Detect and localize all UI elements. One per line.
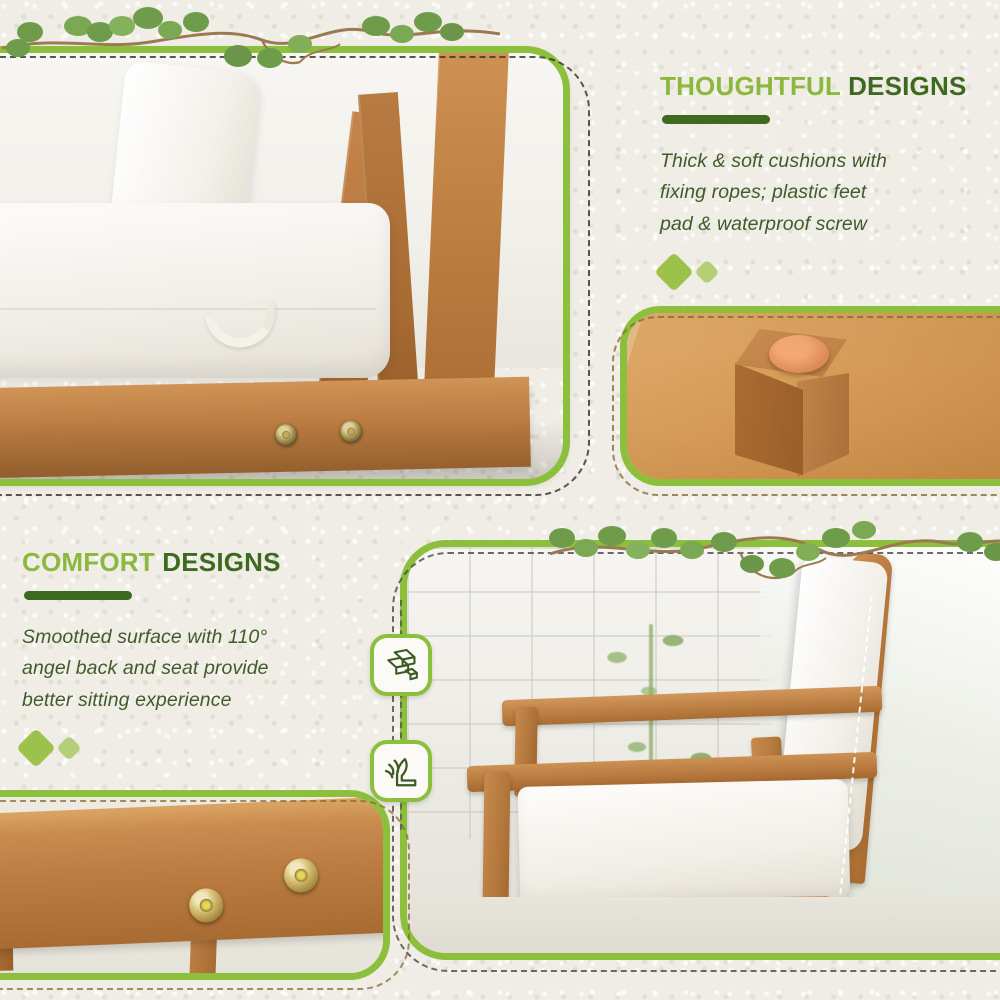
photo-panel-cushion — [0, 46, 570, 486]
photo-bottom-shadow — [0, 419, 563, 479]
waterproof-screw — [189, 888, 224, 923]
thoughtful-body-copy: Thick & soft cushions with fixing ropes;… — [660, 146, 990, 241]
headline-light-word: COMFORT — [22, 547, 155, 577]
floor-surface — [407, 897, 1000, 953]
comfort-headline: COMFORT DESIGNS — [22, 548, 362, 577]
body-line: Smoothed surface with 110° — [22, 622, 362, 654]
comfort-seat-icon — [382, 752, 420, 790]
body-line: better sitting experience — [22, 685, 362, 717]
headline-light-word: THOUGHTFUL — [660, 71, 841, 101]
seat-cushion — [0, 203, 390, 378]
comfort-body-copy: Smoothed surface with 110° angel back an… — [22, 622, 362, 717]
badge-wood-planks — [370, 634, 432, 696]
photo-vignette — [627, 313, 1000, 479]
badge-comfort-seat — [370, 740, 432, 802]
diamond-small-icon — [56, 736, 81, 761]
section-thoughtful-designs: THOUGHTFUL DESIGNS Thick & soft cushions… — [660, 72, 990, 286]
diamond-decoration-group — [660, 258, 990, 286]
diamond-decoration-group — [22, 734, 362, 762]
diamond-large-icon — [654, 253, 694, 293]
body-line: fixing ropes; plastic feet — [660, 177, 990, 209]
wood-planks-icon — [382, 646, 420, 684]
body-line: Thick & soft cushions with — [660, 146, 990, 178]
photo-panel-chair — [400, 540, 1000, 960]
photo-panel-footpad — [620, 306, 1000, 486]
headline-dark-word: DESIGNS — [162, 547, 280, 577]
diamond-large-icon — [16, 729, 56, 769]
diamond-small-icon — [694, 260, 719, 285]
headline-dark-word: DESIGNS — [848, 71, 966, 101]
headline-underline-rule — [662, 115, 770, 124]
wood-rail — [0, 802, 390, 950]
thoughtful-headline: THOUGHTFUL DESIGNS — [660, 72, 990, 101]
waterproof-screw — [283, 858, 318, 893]
body-line: angel back and seat provide — [22, 653, 362, 685]
headline-underline-rule — [24, 591, 132, 600]
body-line: pad & waterproof screw — [660, 209, 990, 241]
chair-seat-cushion — [518, 779, 851, 907]
photo-panel-screw — [0, 790, 390, 980]
section-comfort-designs: COMFORT DESIGNS Smoothed surface with 11… — [22, 548, 362, 762]
